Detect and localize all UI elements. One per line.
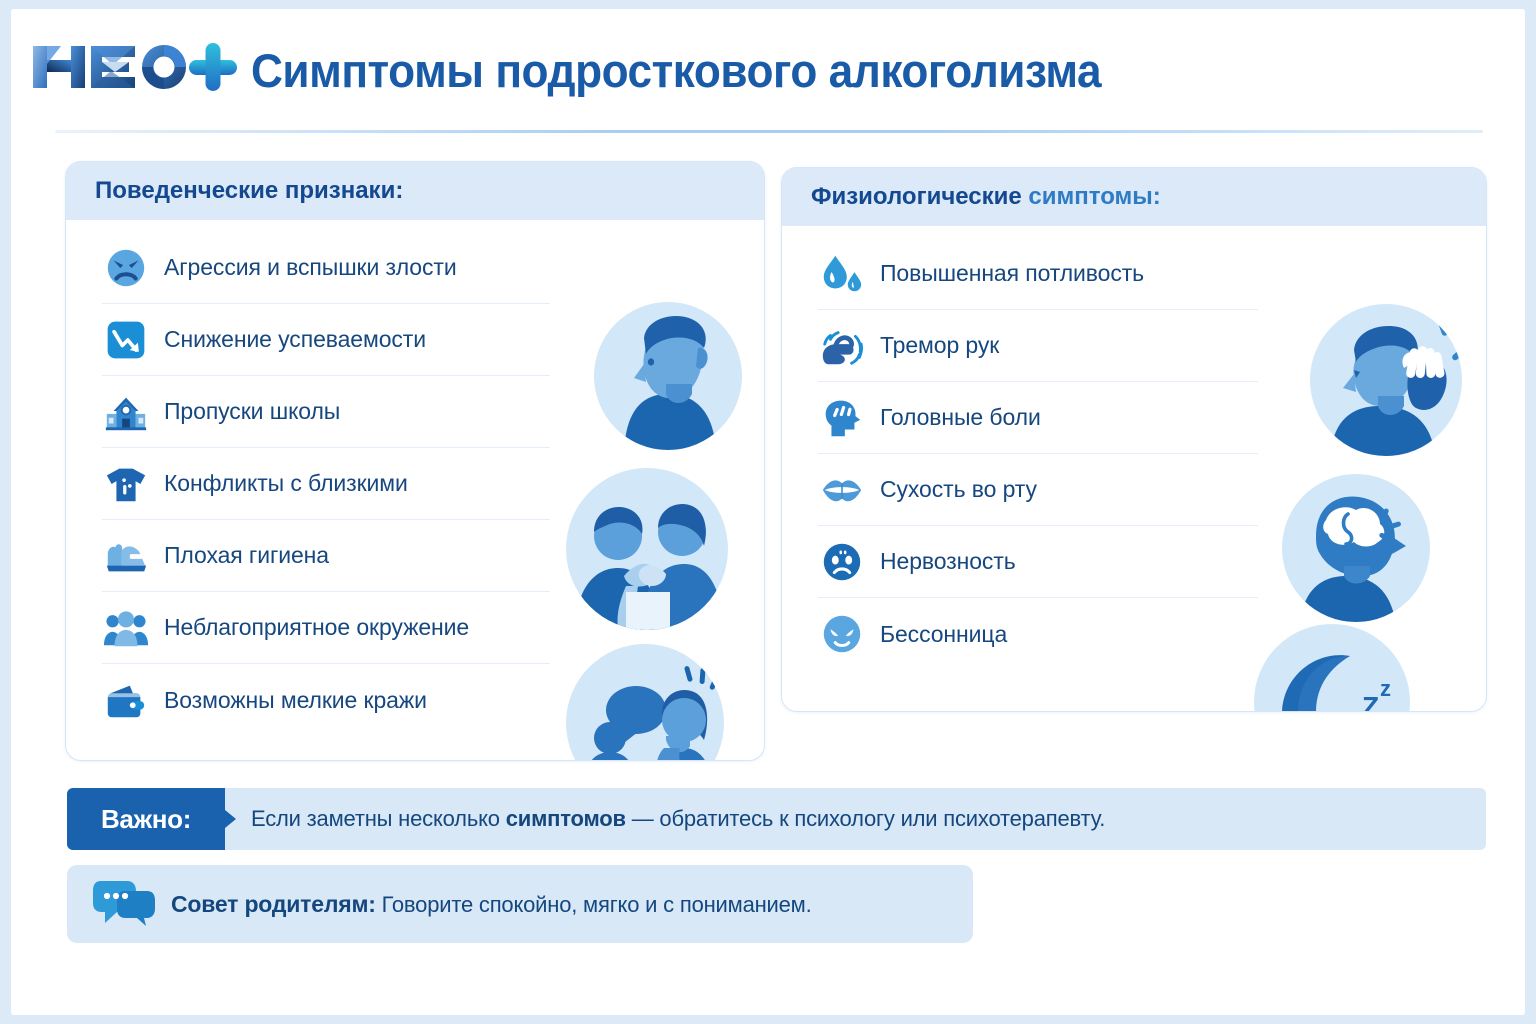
list-item[interactable]: Головные боли	[818, 382, 1258, 454]
water-drops-icon	[818, 250, 866, 298]
list-item[interactable]: Конфликты с близкими	[102, 448, 550, 520]
important-badge: Важно:	[67, 788, 225, 850]
important-text-bold: симптомов	[506, 806, 626, 831]
header-divider	[55, 130, 1483, 133]
list-item[interactable]: Пропуски школы	[102, 376, 550, 448]
neo-plus-logo	[31, 38, 241, 96]
list-item-label: Пропуски школы	[164, 398, 340, 425]
advice-banner-text: Совет родителям: Говорите спокойно, мягк…	[171, 891, 812, 918]
advice-label-bold: Совет родителям:	[171, 891, 376, 917]
trash-bag-icon	[102, 532, 150, 580]
shaking-hand-icon	[818, 322, 866, 370]
list-item-label: Неблагоприятное окружение	[164, 614, 469, 641]
physiological-title-soft: симптомы:	[1028, 183, 1160, 210]
tshirt-icon	[102, 460, 150, 508]
list-item-label: Повышенная потливость	[880, 260, 1144, 287]
list-item-label: Плохая гигиена	[164, 542, 329, 569]
list-item[interactable]: Возможны мелкие кражи	[102, 664, 550, 736]
important-banner: Важно: Если заметны несколько симптомов …	[67, 788, 1486, 850]
list-item-label: Тремор рук	[880, 332, 999, 359]
physiological-symptoms-card: Физиологические симптомы:	[781, 167, 1487, 712]
list-item[interactable]: Бессонница	[818, 598, 1258, 670]
list-item-label: Конфликты с близкими	[164, 470, 408, 497]
important-badge-chevron-icon	[225, 810, 236, 828]
important-badge-label: Важно:	[101, 804, 191, 835]
list-item[interactable]: Плохая гигиена	[102, 520, 550, 592]
svg-text:Z: Z	[1362, 691, 1379, 712]
lips-icon	[818, 466, 866, 514]
list-item-label: Сухость во рту	[880, 476, 1037, 503]
list-item[interactable]: Снижение успеваемости	[102, 304, 550, 376]
physiological-card-body: z Z z Повышен	[782, 226, 1486, 711]
list-item[interactable]: Сухость во рту	[818, 454, 1258, 526]
infographic-page: Симптомы подросткового алкоголизма Повед…	[11, 9, 1525, 1015]
behavioral-items-list: Агрессия и вспышки злости Снижение успев…	[66, 232, 764, 736]
page-header: Симптомы подросткового алкоголизма	[11, 9, 1525, 121]
school-building-icon	[102, 388, 150, 436]
physiological-title-strong: Физиологические	[811, 183, 1022, 210]
page-title: Симптомы подросткового алкоголизма	[251, 43, 1101, 98]
declining-chart-icon	[102, 316, 150, 364]
list-item[interactable]: Агрессия и вспышки злости	[102, 232, 550, 304]
physiological-card-header: Физиологические симптомы:	[782, 168, 1486, 226]
list-item[interactable]: Повышенная потливость	[818, 238, 1258, 310]
behavioral-card-title: Поведенческие признаки:	[95, 177, 403, 205]
list-item[interactable]: Тремор рук	[818, 310, 1258, 382]
important-text-before: Если заметны несколько	[251, 806, 506, 831]
list-item-label: Нервозность	[880, 548, 1016, 575]
physiological-card-title: Физиологические симптомы:	[811, 183, 1161, 211]
list-item-label: Возможны мелкие кражи	[164, 687, 427, 714]
svg-text:z: z	[1342, 706, 1359, 712]
important-text-after: — обратитесь к психологу или психотерапе…	[626, 806, 1105, 831]
important-banner-text: Если заметны несколько симптомов — обрат…	[225, 806, 1105, 832]
behavioral-signs-card: Поведенческие признаки:	[65, 161, 765, 761]
behavioral-card-header: Поведенческие признаки:	[66, 162, 764, 220]
worried-face-icon	[818, 538, 866, 586]
advice-banner: Совет родителям: Говорите спокойно, мягк…	[67, 865, 973, 943]
physiological-items-list: Повышенная потливость	[782, 238, 1486, 670]
logo-icon	[31, 38, 241, 96]
list-item[interactable]: Неблагоприятное окружение	[102, 592, 550, 664]
head-pain-icon	[818, 394, 866, 442]
advice-label-rest: Говорите спокойно, мягко и с пониманием.	[376, 892, 812, 917]
tired-face-icon	[818, 610, 866, 658]
chat-bubbles-icon	[93, 875, 155, 934]
list-item-label: Агрессия и вспышки злости	[164, 254, 457, 281]
svg-text:z: z	[1380, 676, 1391, 701]
wallet-icon	[102, 676, 150, 724]
angry-face-icon	[102, 244, 150, 292]
behavioral-card-body: Агрессия и вспышки злости Снижение успев…	[66, 220, 764, 760]
list-item[interactable]: Нервозность	[818, 526, 1258, 598]
list-item-label: Головные боли	[880, 404, 1041, 431]
list-item-label: Бессонница	[880, 621, 1007, 648]
list-item-label: Снижение успеваемости	[164, 326, 426, 353]
group-people-icon	[102, 604, 150, 652]
